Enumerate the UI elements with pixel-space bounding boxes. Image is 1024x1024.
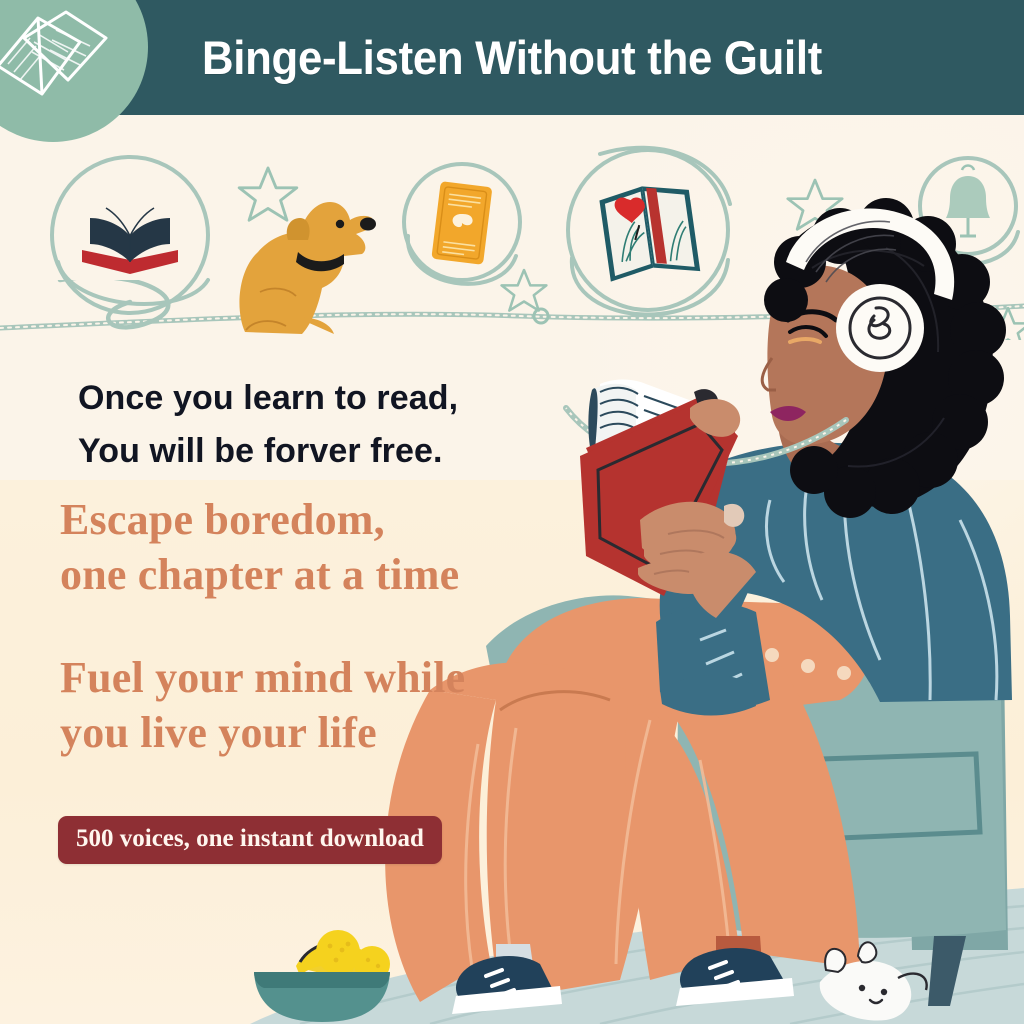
fruit-bowl — [254, 930, 390, 1022]
foreground-illustration — [0, 0, 1024, 1024]
fingernail — [724, 504, 744, 527]
bowl-rim — [254, 972, 390, 988]
cat-icon — [820, 942, 927, 1020]
poster-canvas: Once you learn to read, You will be forv… — [0, 0, 1024, 1024]
lemon-1 — [316, 930, 360, 974]
wrist — [689, 551, 756, 618]
